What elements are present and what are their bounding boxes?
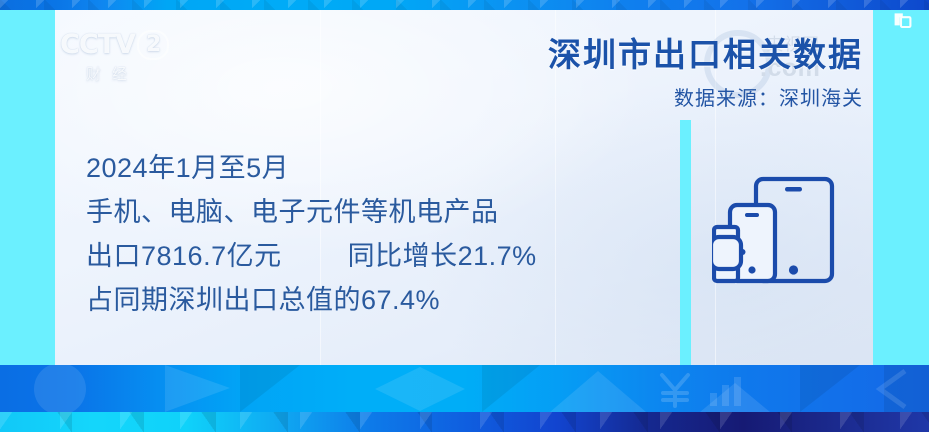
broadcast-graphic: CCTV2 财经 央视网 .com 深圳市出口相关数据 数据来源：深圳海关 20… <box>0 0 929 432</box>
share-of-total-line: 占同期深圳出口总值的67.4% <box>86 278 646 322</box>
top-decorative-strip <box>0 0 929 10</box>
bottom-edge-texture <box>0 412 929 432</box>
bottom-edge-strip <box>0 412 929 432</box>
cctv-wordmark: CCTV2 <box>60 30 185 60</box>
picture-in-picture-icon <box>893 12 912 29</box>
export-value-text: 出口7816.7亿元 <box>86 241 282 271</box>
product-category-line: 手机、电脑、电子元件等机电产品 <box>86 190 646 234</box>
period-line: 2024年1月至5月 <box>86 146 646 190</box>
vertical-divider <box>680 120 691 365</box>
bottom-decorative-band <box>0 365 929 412</box>
cctv-channel-logo: CCTV2 财经 <box>60 30 185 92</box>
channel-number: 2 <box>137 30 169 60</box>
channel-subtitle: 财经 <box>86 63 185 84</box>
data-source-label: 数据来源：深圳海关 <box>674 82 863 111</box>
export-value-line: 出口7816.7亿元同比增长21.7% <box>86 234 646 278</box>
page-title: 深圳市出口相关数据 <box>548 28 863 76</box>
yoy-growth-text: 同比增长21.7% <box>348 241 537 271</box>
right-accent-strip <box>873 10 929 365</box>
left-accent-strip <box>0 10 55 365</box>
cctv-text: CCTV <box>60 29 135 60</box>
statistics-text-block: 2024年1月至5月 手机、电脑、电子元件等机电产品 出口7816.7亿元同比增… <box>86 146 646 322</box>
electronics-devices-icon <box>712 165 847 300</box>
top-strip-texture <box>0 0 929 10</box>
